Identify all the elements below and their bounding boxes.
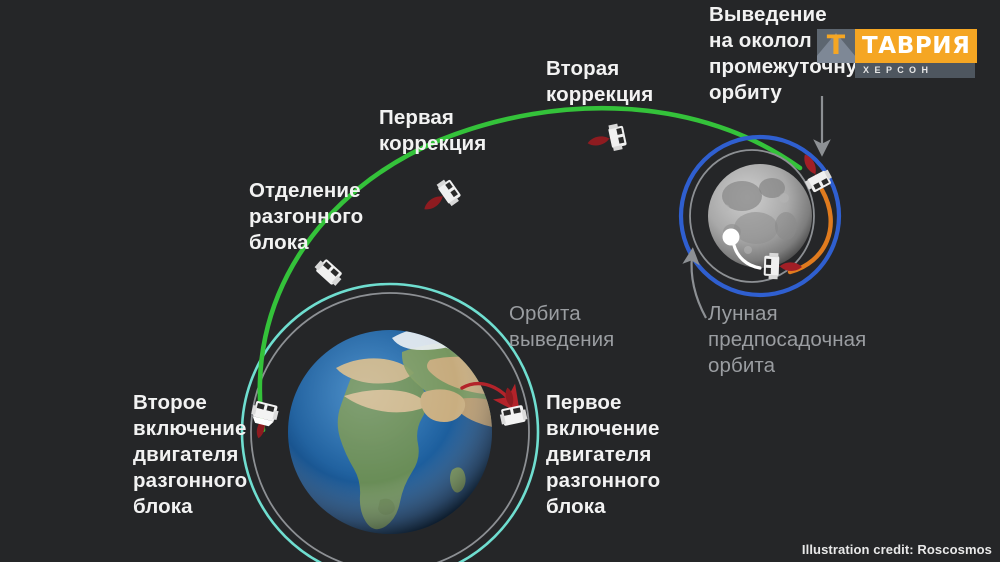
watermark-letter: T [817, 29, 855, 63]
infographic-canvas: Выведение на околол промежуточную орбиту… [0, 0, 1000, 562]
channel-watermark: T ТАВРИЯ ХЕРСОН [817, 29, 977, 78]
label-separation: Отделение разгонного блока [249, 178, 363, 256]
spacecraft-second-correction [585, 123, 628, 156]
moon-group [681, 137, 839, 295]
label-second-burn: Второе включение двигателя разгонного бл… [133, 390, 247, 520]
earth-group [242, 284, 538, 562]
label-injection-orbit: Орбита выведения [509, 301, 614, 353]
landing-site-marker [723, 229, 740, 246]
earth-shading [288, 330, 492, 534]
watermark-subtitle: ХЕРСОН [855, 63, 975, 78]
label-first-correction: Первая коррекция [379, 105, 486, 157]
tavria-logo-icon: T [817, 29, 855, 63]
label-second-correction: Вторая коррекция [546, 56, 653, 108]
watermark-row: T ТАВРИЯ [817, 29, 977, 63]
spacecraft-first-correction [417, 177, 463, 220]
watermark-name: ТАВРИЯ [855, 29, 977, 63]
illustration-credit: Illustration credit: Roscosmos [802, 542, 992, 557]
spacecraft-separation [313, 257, 345, 288]
label-first-burn: Первое включение двигателя разгонного бл… [546, 390, 660, 520]
label-lunar-orbit: Лунная предпосадочная орбита [708, 301, 866, 379]
